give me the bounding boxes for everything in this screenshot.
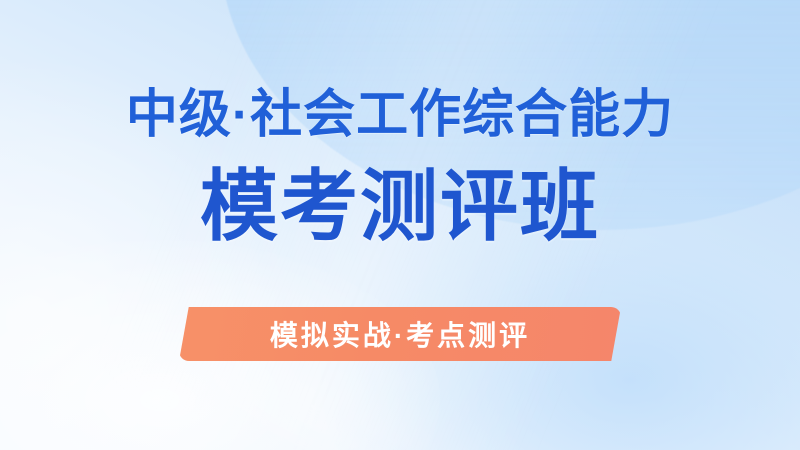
course-subject-title: 中级·社会工作综合能力	[126, 86, 674, 144]
ribbon-label: 模拟实战·考点测评	[179, 307, 621, 361]
poster-content: 中级·社会工作综合能力 模考测评班	[0, 0, 800, 450]
course-banner-poster: 中级·社会工作综合能力 模考测评班 模拟实战·考点测评	[0, 0, 800, 450]
course-main-title: 模考测评班	[200, 164, 600, 250]
feature-ribbon: 模拟实战·考点测评	[179, 307, 621, 361]
